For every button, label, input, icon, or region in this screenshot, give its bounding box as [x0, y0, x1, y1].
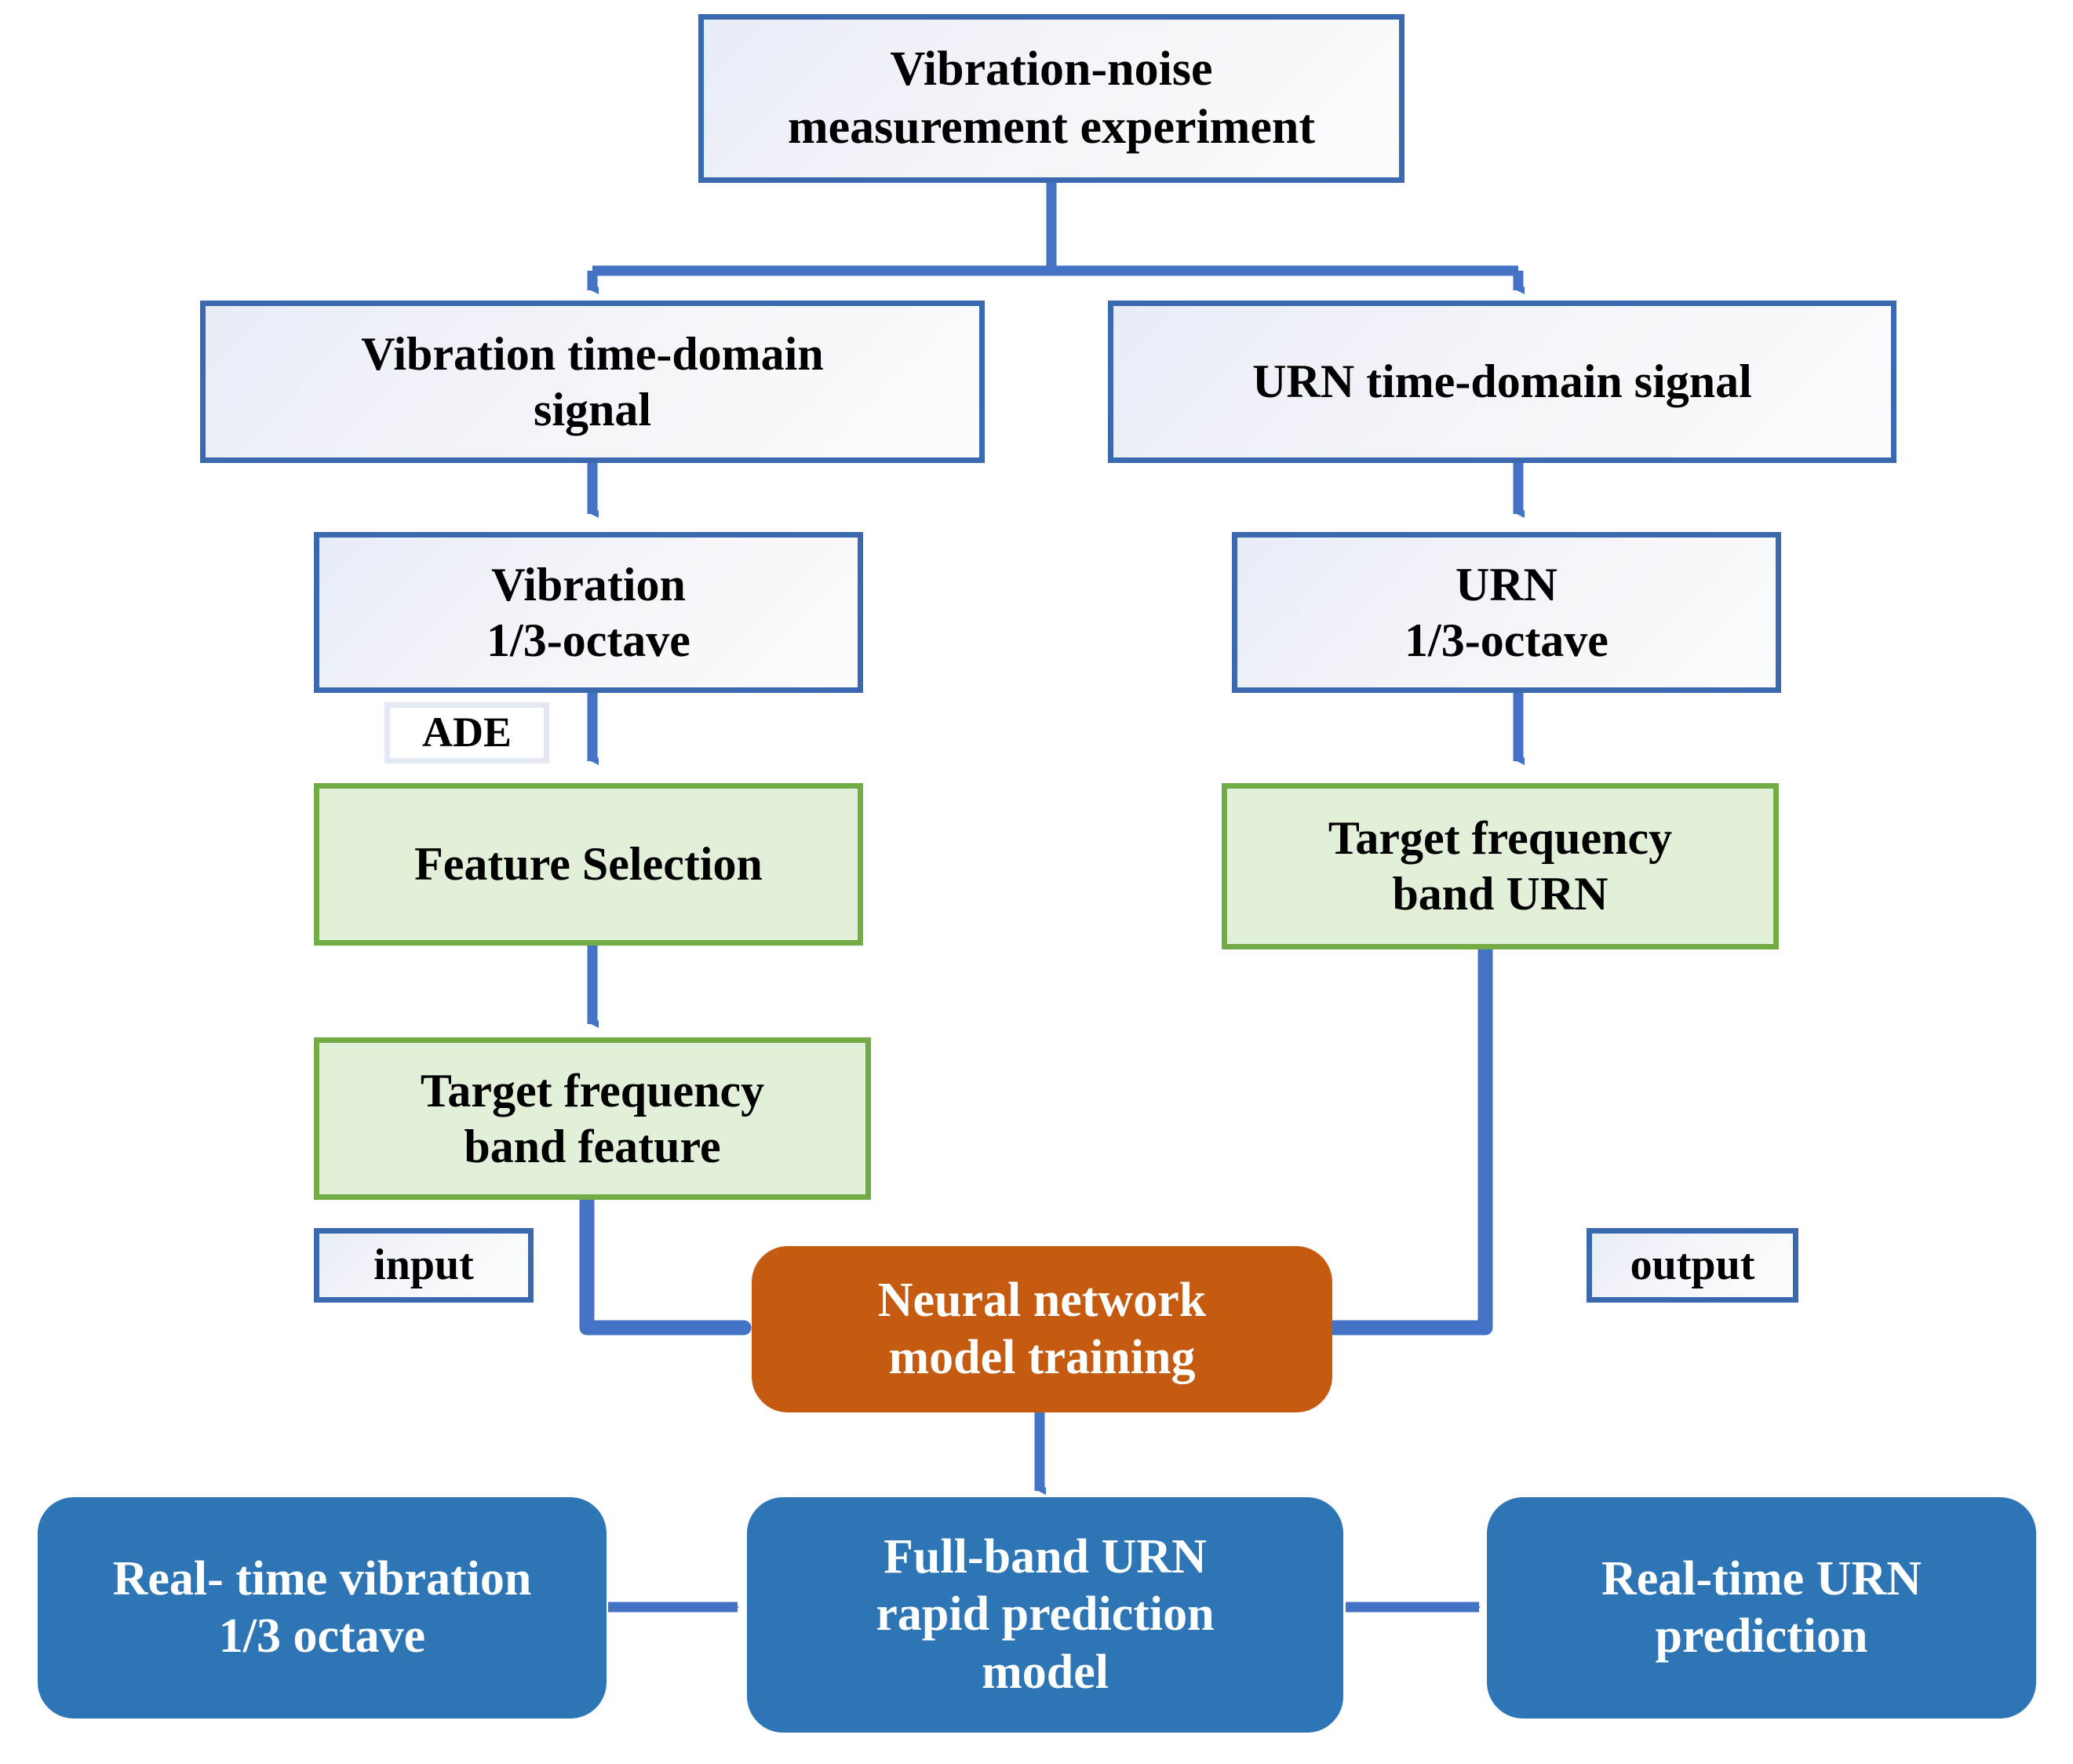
edge-target-feature-to-neural	[587, 1199, 744, 1328]
node-target-frequency-band-urn[interactable]: Target frequency band URN	[1222, 783, 1779, 949]
node-vibration-time-domain-signal[interactable]: Vibration time-domain signal	[200, 301, 985, 463]
node-feature-selection[interactable]: Feature Selection	[314, 783, 863, 946]
node-target-frequency-band-feature[interactable]: Target frequency band feature	[314, 1037, 871, 1200]
flowchart-canvas: Vibration-noise measurement experiment V…	[0, 0, 2073, 1764]
node-neural-network-model-training[interactable]: Neural network model training	[752, 1246, 1332, 1412]
node-full-band-urn-rapid-prediction-model[interactable]: Full-band URN rapid prediction model	[747, 1497, 1343, 1733]
node-output-label[interactable]: output	[1587, 1228, 1798, 1303]
node-input-label[interactable]: input	[314, 1228, 534, 1303]
node-vibration-one-third-octave[interactable]: Vibration 1/3-octave	[314, 532, 863, 693]
node-real-time-vibration-one-third-octave[interactable]: Real- time vibration 1/3 octave	[38, 1497, 607, 1718]
node-ade-label[interactable]: ADE	[384, 702, 549, 764]
node-urn-one-third-octave[interactable]: URN 1/3-octave	[1232, 532, 1781, 693]
node-urn-time-domain-signal[interactable]: URN time-domain signal	[1108, 301, 1896, 463]
edge-target-urn-to-neural	[1334, 949, 1485, 1328]
node-real-time-urn-prediction[interactable]: Real-time URN prediction	[1487, 1497, 2036, 1718]
node-vibration-noise-measurement-experiment[interactable]: Vibration-noise measurement experiment	[698, 14, 1404, 183]
